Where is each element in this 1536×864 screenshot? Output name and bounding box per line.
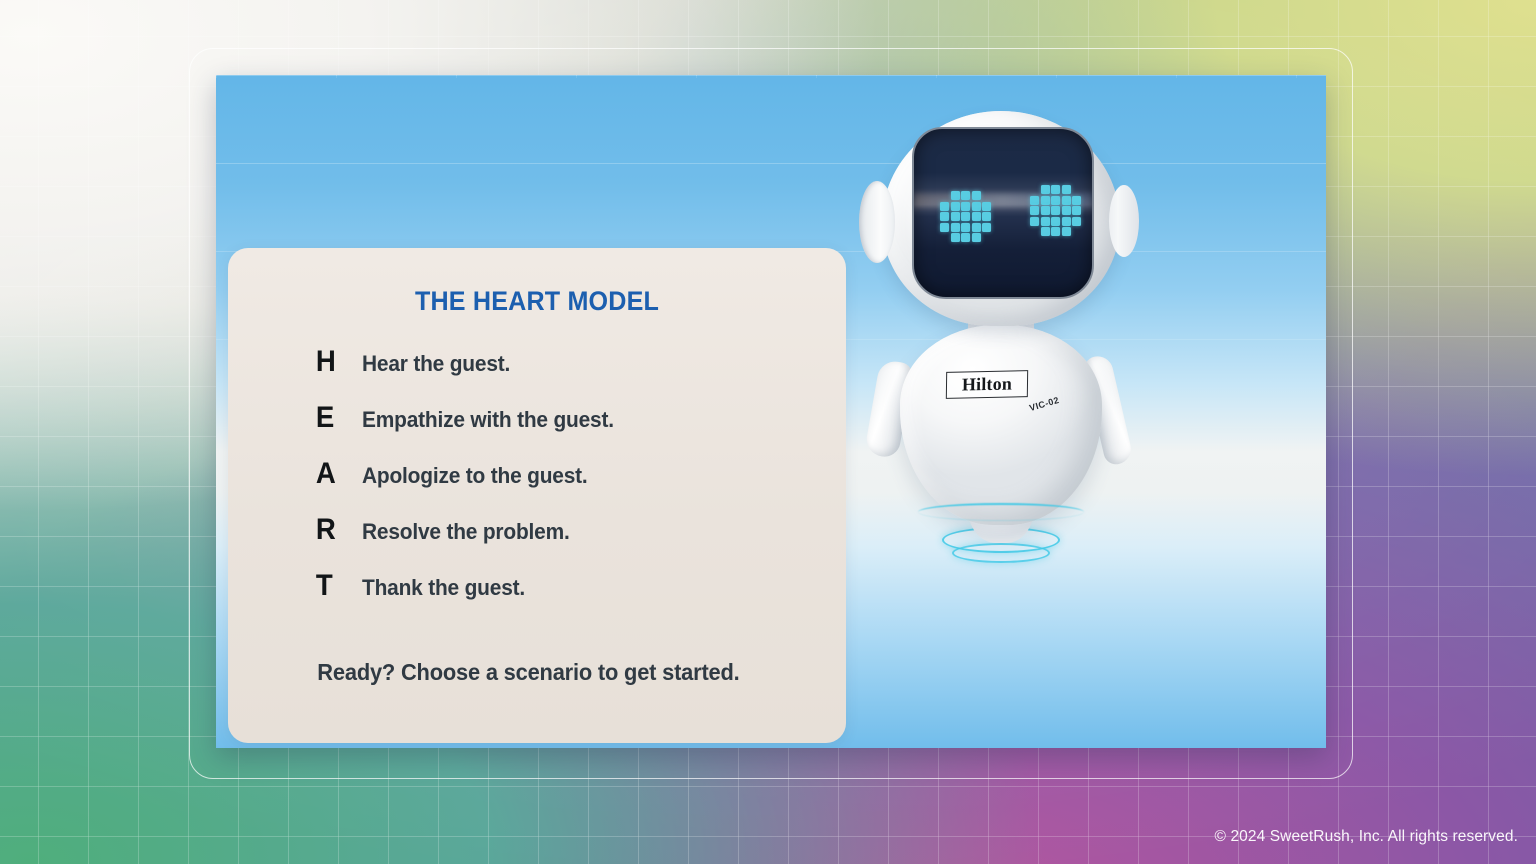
copyright-notice: © 2024 SweetRush, Inc. All rights reserv… xyxy=(1215,828,1518,846)
heart-letter: H xyxy=(316,345,360,379)
eye-pixel xyxy=(1072,227,1081,236)
heart-model-list: H Hear the guest. E Empathize with the g… xyxy=(228,345,846,625)
eye-pixel xyxy=(1051,196,1060,205)
heart-step-text: Apologize to the guest. xyxy=(362,463,588,489)
heart-step-text: Resolve the problem. xyxy=(362,519,570,545)
eye-pixel xyxy=(982,191,991,200)
robot-right-eye-icon xyxy=(1030,185,1081,236)
eye-pixel xyxy=(951,223,960,232)
eye-pixel xyxy=(1041,206,1050,215)
hilton-brand-badge: Hilton xyxy=(946,370,1028,399)
eye-pixel xyxy=(982,233,991,242)
robot-left-eye-icon xyxy=(940,191,991,242)
eye-pixel xyxy=(972,212,981,221)
eye-pixel xyxy=(940,202,949,211)
robot-face-screen xyxy=(912,127,1094,299)
eye-pixel xyxy=(961,223,970,232)
eye-pixel xyxy=(940,212,949,221)
heart-letter: E xyxy=(316,401,360,435)
eye-pixel xyxy=(982,223,991,232)
robot-avatar-icon: Hilton VIC-02 xyxy=(856,103,1146,543)
eye-pixel xyxy=(1051,185,1060,194)
eye-pixel xyxy=(1072,217,1081,226)
eye-pixel xyxy=(1062,217,1071,226)
eye-pixel xyxy=(1062,185,1071,194)
robot-right-ear xyxy=(1109,185,1139,257)
list-item: R Resolve the problem. xyxy=(314,513,846,569)
hilton-badge-label: Hilton xyxy=(962,373,1013,395)
eye-pixel xyxy=(1051,217,1060,226)
eye-pixel xyxy=(951,212,960,221)
eye-pixel xyxy=(972,202,981,211)
eye-pixel xyxy=(972,233,981,242)
eye-pixel xyxy=(982,212,991,221)
eye-pixel xyxy=(1041,185,1050,194)
robot-led-ring xyxy=(918,503,1084,521)
eye-pixel xyxy=(1041,196,1050,205)
eye-pixel xyxy=(1030,185,1039,194)
eye-pixel xyxy=(940,233,949,242)
eye-pixel xyxy=(951,233,960,242)
heart-step-text: Thank the guest. xyxy=(362,575,525,601)
eye-pixel xyxy=(951,202,960,211)
eye-pixel xyxy=(1030,196,1039,205)
eye-pixel xyxy=(1072,206,1081,215)
eye-pixel xyxy=(1072,196,1081,205)
list-item: A Apologize to the guest. xyxy=(314,457,846,513)
eye-pixel xyxy=(1062,196,1071,205)
heart-step-text: Hear the guest. xyxy=(362,351,510,377)
course-slide: THE HEART MODEL H Hear the guest. E Empa… xyxy=(216,75,1326,748)
eye-pixel xyxy=(982,202,991,211)
eye-pixel xyxy=(1030,227,1039,236)
eye-pixel xyxy=(961,202,970,211)
eye-pixel xyxy=(1072,185,1081,194)
eye-pixel xyxy=(940,223,949,232)
eye-pixel xyxy=(961,212,970,221)
heart-letter: T xyxy=(316,569,360,603)
heart-letter: R xyxy=(316,513,360,547)
eye-pixel xyxy=(961,191,970,200)
eye-pixel xyxy=(1051,206,1060,215)
eye-pixel xyxy=(1041,217,1050,226)
robot-hover-ring-inner xyxy=(952,543,1050,563)
list-item: H Hear the guest. xyxy=(314,345,846,401)
eye-pixel xyxy=(940,191,949,200)
heart-model-card: THE HEART MODEL H Hear the guest. E Empa… xyxy=(228,248,846,743)
list-item: E Empathize with the guest. xyxy=(314,401,846,457)
eye-pixel xyxy=(1062,227,1071,236)
eye-pixel xyxy=(951,191,960,200)
eye-pixel xyxy=(1051,227,1060,236)
eye-pixel xyxy=(1041,227,1050,236)
list-item: T Thank the guest. xyxy=(314,569,846,625)
eye-pixel xyxy=(961,233,970,242)
robot-body xyxy=(900,325,1102,525)
eye-pixel xyxy=(1030,206,1039,215)
page-title: THE HEART MODEL xyxy=(250,286,825,317)
robot-left-ear xyxy=(859,181,895,263)
eye-pixel xyxy=(972,223,981,232)
eye-pixel xyxy=(1030,217,1039,226)
eye-pixel xyxy=(972,191,981,200)
heart-step-text: Empathize with the guest. xyxy=(362,407,614,433)
scenario-prompt: Ready? Choose a scenario to get started. xyxy=(228,659,815,686)
heart-letter: A xyxy=(316,457,360,491)
eye-pixel xyxy=(1062,206,1071,215)
